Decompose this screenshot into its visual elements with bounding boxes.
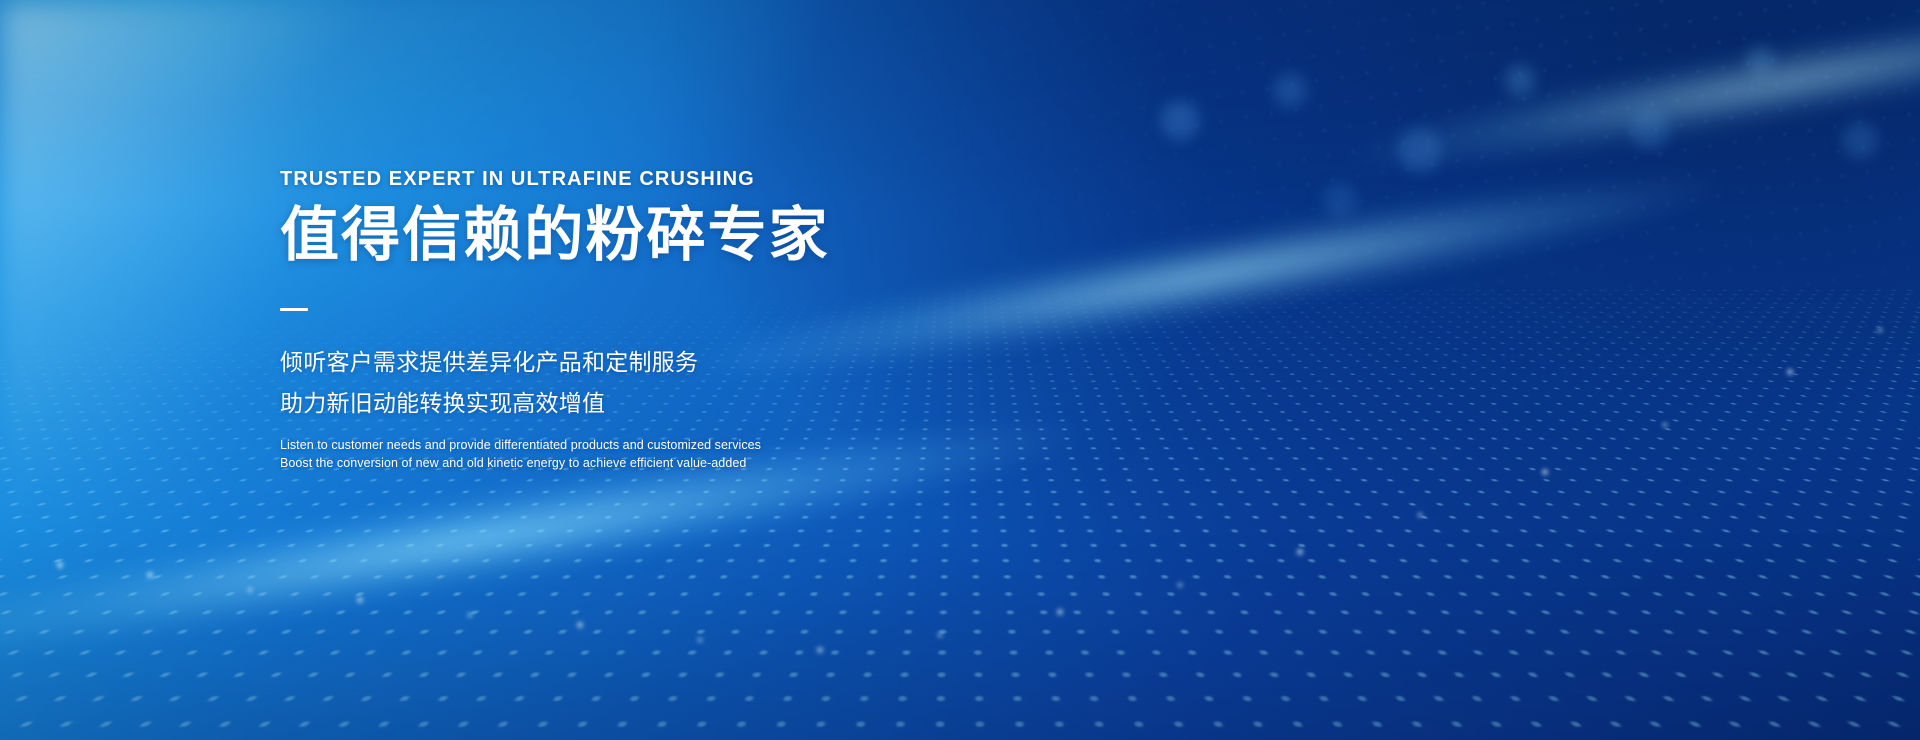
hero-subtitle-english-line-2: Boost the conversion of new and old kine…: [280, 455, 830, 472]
hero-eyebrow-english: TRUSTED EXPERT IN ULTRAFINE CRUSHING: [280, 168, 830, 190]
hero-subtitle-chinese-line-1: 倾听客户需求提供差异化产品和定制服务: [280, 345, 830, 380]
hero-divider-dash: [280, 308, 308, 311]
hero-headline-chinese: 值得信赖的粉碎专家: [280, 202, 830, 268]
hero-text-block: TRUSTED EXPERT IN ULTRAFINE CRUSHING 值得信…: [280, 168, 830, 472]
hero-subtitle-english-line-1: Listen to customer needs and provide dif…: [280, 437, 830, 454]
hero-subtitle-chinese-line-2: 助力新旧动能转换实现高效增值: [280, 386, 830, 421]
hero-banner: TRUSTED EXPERT IN ULTRAFINE CRUSHING 值得信…: [0, 0, 1920, 740]
